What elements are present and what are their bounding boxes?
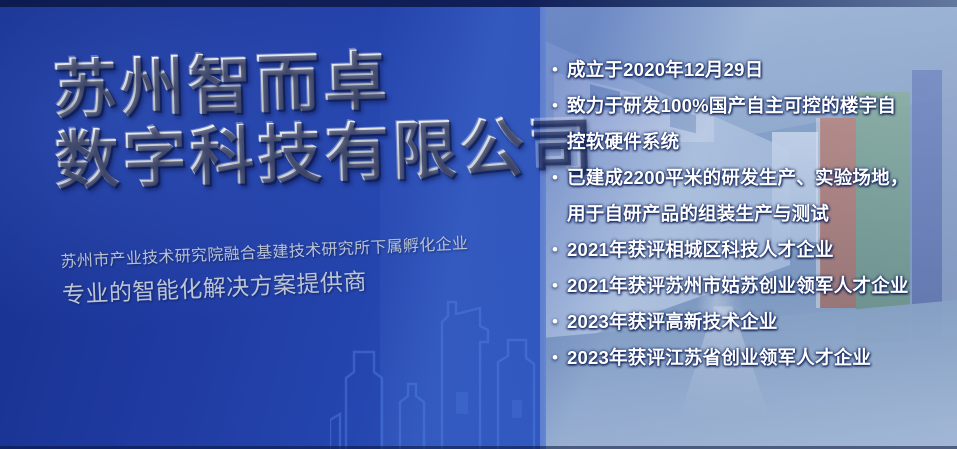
company-name-line-2: 数字科技有限公司 (54, 116, 536, 195)
list-item-text: 2023年获评高新技术企业 (567, 304, 957, 340)
list-item-text: 2021年获评苏州市姑苏创业领军人才企业 (567, 268, 957, 304)
skyline-line-art (330, 280, 546, 449)
list-item: • 2021年获评相城区科技人才企业 (543, 232, 957, 268)
list-item: • 已建成2200平米的研发生产、实验场地， (543, 160, 957, 196)
list-item-text: 成立于2020年12月29日 (567, 52, 957, 88)
bullet-dot-icon: • (543, 160, 567, 196)
bullet-dot-icon: • (543, 88, 567, 124)
bullet-dot-icon: • (543, 268, 567, 304)
presentation-slide: 苏州智而卓 数字科技有限公司 苏州市产业技术研究院融合基建技术研究所下属孵化企业… (0, 0, 957, 449)
bullet-dot-icon: • (543, 52, 567, 88)
list-item: • 成立于2020年12月29日 (543, 52, 957, 88)
list-item-text: 致力于研发100%国产自主可控的楼宇自 (567, 88, 957, 124)
list-item: • 2023年获评高新技术企业 (543, 304, 957, 340)
list-item: • 2021年获评苏州市姑苏创业领军人才企业 (543, 268, 957, 304)
company-logo-sign: 苏州智而卓 数字科技有限公司 (52, 45, 536, 195)
list-item-text: 2021年获评相城区科技人才企业 (567, 232, 957, 268)
list-item-continuation: 控软硬件系统 (543, 124, 957, 160)
list-item: • 2023年获评江苏省创业领军人才企业 (543, 340, 957, 376)
list-item: • 致力于研发100%国产自主可控的楼宇自 (543, 88, 957, 124)
list-item-text: 已建成2200平米的研发生产、实验场地， (567, 160, 957, 196)
list-item-continuation: 用于自研产品的组装生产与测试 (543, 196, 957, 232)
list-item-text: 控软硬件系统 (567, 124, 957, 160)
bullet-dot-icon: • (543, 340, 567, 376)
company-name-line-1: 苏州智而卓 (52, 45, 534, 124)
top-border-strip (0, 0, 957, 7)
bullet-dot-icon: • (543, 304, 567, 340)
bullet-dot-icon: • (543, 232, 567, 268)
list-item-text: 用于自研产品的组装生产与测试 (567, 196, 957, 232)
list-item-text: 2023年获评江苏省创业领军人才企业 (567, 340, 957, 376)
company-facts-list: • 成立于2020年12月29日 • 致力于研发100%国产自主可控的楼宇自 控… (543, 52, 957, 376)
